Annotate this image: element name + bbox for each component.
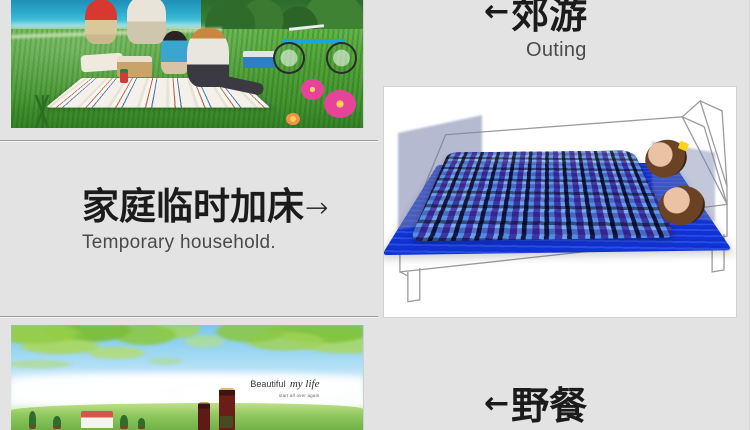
label-temporary-household: 家庭临时加床 → Temporary household. [82, 188, 328, 252]
photo-tagline: Beautiful my life start all over again [250, 374, 319, 398]
person-standing [127, 0, 166, 44]
child-blue-shirt [161, 31, 189, 75]
drink-bottle [120, 69, 128, 83]
foreground-grass [15, 95, 71, 128]
label-outing: ← 郊游 Outing [484, 0, 587, 60]
label-household-title-en: Temporary household. [82, 233, 328, 252]
photo-mattress-on-bed [383, 86, 737, 318]
photo-leaves-sky: Beautiful my life start all over again [11, 325, 364, 430]
divider-left-upper [0, 140, 378, 142]
label-outing-title-cn: 郊游 [511, 0, 587, 34]
pink-flower-small [301, 79, 324, 99]
arrow-left-icon: ← [484, 0, 509, 27]
tree-3 [120, 415, 128, 429]
tagline-sub: start all over again [250, 393, 319, 398]
arrow-left-icon-picnic: ← [484, 389, 509, 419]
divider-left-lower [0, 316, 378, 318]
bicycle-wheel-rear [273, 42, 304, 74]
tagline-main: Beautiful [250, 379, 285, 389]
countryside-house [81, 411, 113, 428]
person-red-shirt [85, 0, 117, 44]
plaid-quilt [410, 150, 676, 240]
cooler-box [243, 51, 275, 68]
tree-2 [53, 416, 61, 429]
wine-bottle-label [220, 416, 233, 428]
label-picnic: ← 野餐 [484, 387, 587, 425]
tree-1 [29, 411, 37, 429]
orange-flower [286, 113, 300, 126]
label-picnic-title-cn: 野餐 [511, 387, 587, 425]
product-detail-page: ← 郊游 Outing [0, 0, 750, 430]
label-household-title-cn: 家庭临时加床 [82, 188, 304, 225]
tagline-script: my life [290, 378, 320, 390]
label-outing-title-en: Outing [526, 40, 587, 60]
tree-4 [138, 418, 146, 429]
arrow-right-icon: → [305, 194, 328, 222]
photo-family-picnic [11, 0, 364, 128]
pink-flower-large [324, 90, 356, 118]
